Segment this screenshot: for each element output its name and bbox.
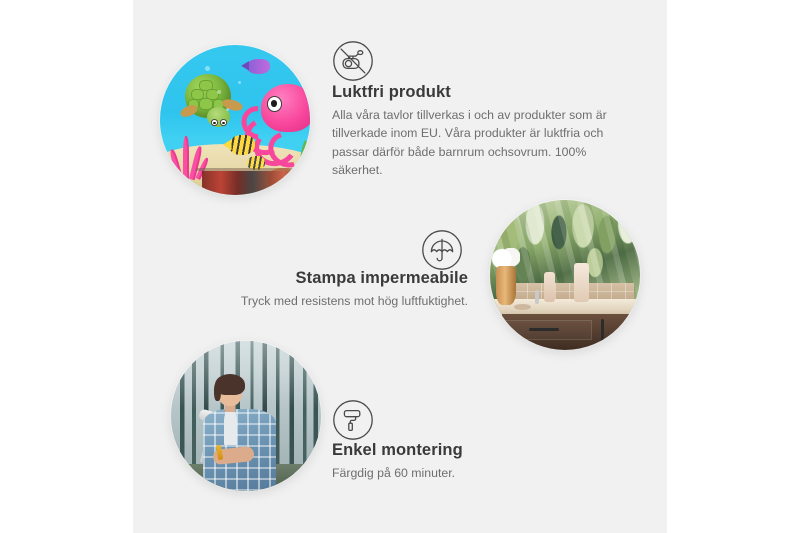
hair-side — [214, 382, 221, 401]
woman-figure — [201, 377, 279, 491]
feature-text-easy-mounting: Enkel montering Färgdig på 60 minuter. — [332, 440, 622, 482]
promo-banner: Luktfri produkt Alla våra tavlor tillver… — [0, 0, 800, 533]
striped-fish-large — [229, 135, 255, 155]
forest-scene — [171, 341, 321, 491]
bathroom-vanity-photo — [490, 200, 640, 350]
ribbed-vase — [496, 266, 516, 305]
no-fragrance-icon — [332, 40, 374, 82]
feature-body: Färgdig på 60 minuter. — [332, 464, 622, 482]
feature-title: Stampa impermeabile — [193, 268, 468, 289]
underwater-scene — [160, 45, 310, 195]
tile-backsplash — [499, 283, 634, 301]
bottle-left — [544, 272, 555, 302]
feature-title: Enkel montering — [332, 440, 622, 461]
door-handle — [601, 319, 604, 343]
feature-title: Luktfri produkt — [332, 82, 622, 103]
photo-strip-overlay — [202, 171, 307, 195]
drawer-handle — [529, 328, 559, 331]
octopus-illustration — [244, 84, 310, 162]
octopus-eye — [267, 96, 283, 113]
paint-roller-icon — [332, 399, 374, 441]
white-tshirt — [224, 411, 236, 445]
bathroom-scene — [490, 200, 640, 350]
woman-in-forest-photo — [171, 341, 321, 491]
content-panel: Luktfri produkt Alla våra tavlor tillver… — [133, 0, 667, 533]
feature-text-odourless: Luktfri produkt Alla våra tavlor tillver… — [332, 82, 622, 179]
soap-dish — [514, 304, 531, 310]
umbrella-icon — [421, 229, 463, 271]
underwater-cartoon-photo — [160, 45, 310, 195]
bottle-right — [574, 263, 589, 302]
feature-body: Tryck med resistens mot hög luftfuktighe… — [193, 292, 468, 310]
feature-text-waterproof: Stampa impermeabile Tryck med resistens … — [193, 268, 468, 310]
faucet — [535, 290, 539, 304]
feature-body: Alla våra tavlor tillverkas i och av pro… — [332, 106, 622, 180]
purple-fish — [247, 59, 270, 74]
